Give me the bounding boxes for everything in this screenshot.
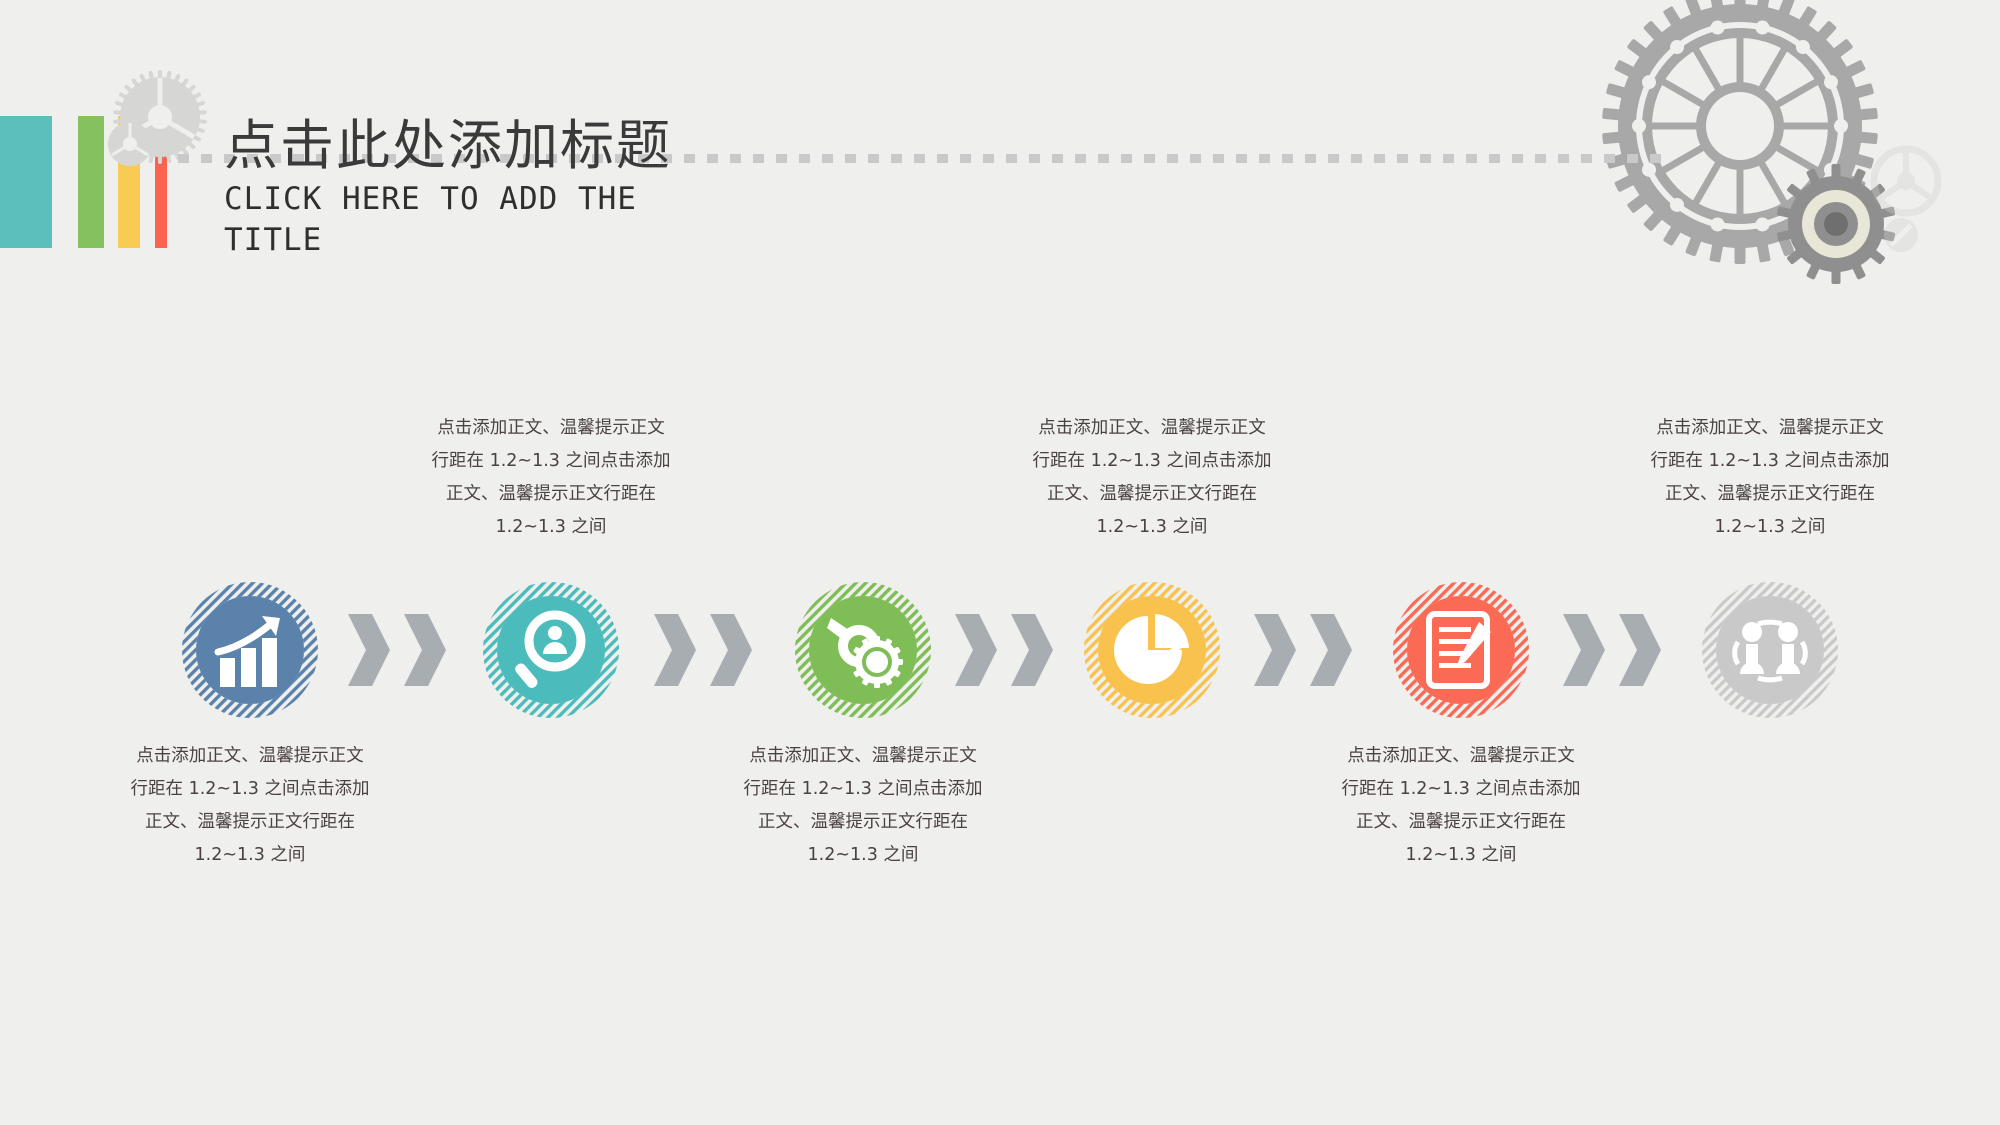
chevron-right-icon	[1252, 612, 1298, 688]
step-2-text-line: 行距在 1.2~1.3 之间点击添加	[401, 445, 701, 478]
pie-chart-icon	[1098, 596, 1206, 704]
team-collaboration-icon	[1716, 596, 1824, 704]
step-5-text-line: 行距在 1.2~1.3 之间点击添加	[1311, 773, 1611, 806]
step-1-description: 点击添加正文、温馨提示正文行距在 1.2~1.3 之间点击添加正文、温馨提示正文…	[100, 740, 400, 872]
step-connector-2	[652, 612, 762, 688]
step-1-text-line: 正文、温馨提示正文行距在	[100, 806, 400, 839]
person-search-icon	[497, 596, 605, 704]
wrench-gear-icon	[809, 596, 917, 704]
chevron-right-icon	[402, 612, 448, 688]
chevron-right-icon	[1617, 612, 1663, 688]
chevron-right-icon	[652, 612, 698, 688]
step-3-description: 点击添加正文、温馨提示正文行距在 1.2~1.3 之间点击添加正文、温馨提示正文…	[713, 740, 1013, 872]
step-5-text-line: 点击添加正文、温馨提示正文	[1311, 740, 1611, 773]
step-6-description: 点击添加正文、温馨提示正文行距在 1.2~1.3 之间点击添加正文、温馨提示正文…	[1620, 412, 1920, 544]
document-edit-icon	[1407, 596, 1515, 704]
step-2-text-line: 点击添加正文、温馨提示正文	[401, 412, 701, 445]
step-3-text-line: 1.2~1.3 之间	[713, 839, 1013, 872]
step-2-text-line: 1.2~1.3 之间	[401, 511, 701, 544]
step-2-description: 点击添加正文、温馨提示正文行距在 1.2~1.3 之间点击添加正文、温馨提示正文…	[401, 412, 701, 544]
step-2-icon-circle[interactable]	[483, 582, 619, 718]
step-1-text-line: 点击添加正文、温馨提示正文	[100, 740, 400, 773]
step-6-text-line: 点击添加正文、温馨提示正文	[1620, 412, 1920, 445]
step-3-text-line: 行距在 1.2~1.3 之间点击添加	[713, 773, 1013, 806]
bar-chart-growth-icon	[196, 596, 304, 704]
step-6-text-line: 1.2~1.3 之间	[1620, 511, 1920, 544]
step-1-text-line: 1.2~1.3 之间	[100, 839, 400, 872]
step-5-text-line: 正文、温馨提示正文行距在	[1311, 806, 1611, 839]
step-4-text-line: 1.2~1.3 之间	[1002, 511, 1302, 544]
step-3-icon-circle[interactable]	[795, 582, 931, 718]
step-2-text-line: 正文、温馨提示正文行距在	[401, 478, 701, 511]
bar-chart-growth-icon	[196, 596, 304, 704]
pie-chart-icon	[1098, 596, 1206, 704]
chevron-right-icon	[1009, 612, 1055, 688]
chevron-right-icon	[708, 612, 754, 688]
step-3-text-line: 点击添加正文、温馨提示正文	[713, 740, 1013, 773]
step-3-text-line: 正文、温馨提示正文行距在	[713, 806, 1013, 839]
team-collaboration-icon	[1716, 596, 1824, 704]
wrench-gear-icon	[809, 596, 917, 704]
step-4-description: 点击添加正文、温馨提示正文行距在 1.2~1.3 之间点击添加正文、温馨提示正文…	[1002, 412, 1302, 544]
step-1-icon-circle[interactable]	[182, 582, 318, 718]
step-connector-3	[953, 612, 1063, 688]
person-search-icon	[497, 596, 605, 704]
step-connector-4	[1252, 612, 1362, 688]
chevron-right-icon	[953, 612, 999, 688]
step-6-text-line: 行距在 1.2~1.3 之间点击添加	[1620, 445, 1920, 478]
step-4-icon-circle[interactable]	[1084, 582, 1220, 718]
step-1-text-line: 行距在 1.2~1.3 之间点击添加	[100, 773, 400, 806]
title-english: CLICK HERE TO ADD THE TITLE	[224, 179, 654, 261]
step-5-icon-circle[interactable]	[1393, 582, 1529, 718]
step-connector-5	[1561, 612, 1671, 688]
chevron-right-icon	[1561, 612, 1607, 688]
step-6-text-line: 正文、温馨提示正文行距在	[1620, 478, 1920, 511]
step-4-text-line: 行距在 1.2~1.3 之间点击添加	[1002, 445, 1302, 478]
title-chinese: 点击此处添加标题	[224, 115, 1124, 177]
step-4-text-line: 点击添加正文、温馨提示正文	[1002, 412, 1302, 445]
step-5-text-line: 1.2~1.3 之间	[1311, 839, 1611, 872]
step-connector-1	[346, 612, 456, 688]
step-4-text-line: 正文、温馨提示正文行距在	[1002, 478, 1302, 511]
chevron-right-icon	[346, 612, 392, 688]
step-6-icon-circle[interactable]	[1702, 582, 1838, 718]
chevron-right-icon	[1308, 612, 1354, 688]
document-edit-icon	[1407, 596, 1515, 704]
step-5-description: 点击添加正文、温馨提示正文行距在 1.2~1.3 之间点击添加正文、温馨提示正文…	[1311, 740, 1611, 872]
